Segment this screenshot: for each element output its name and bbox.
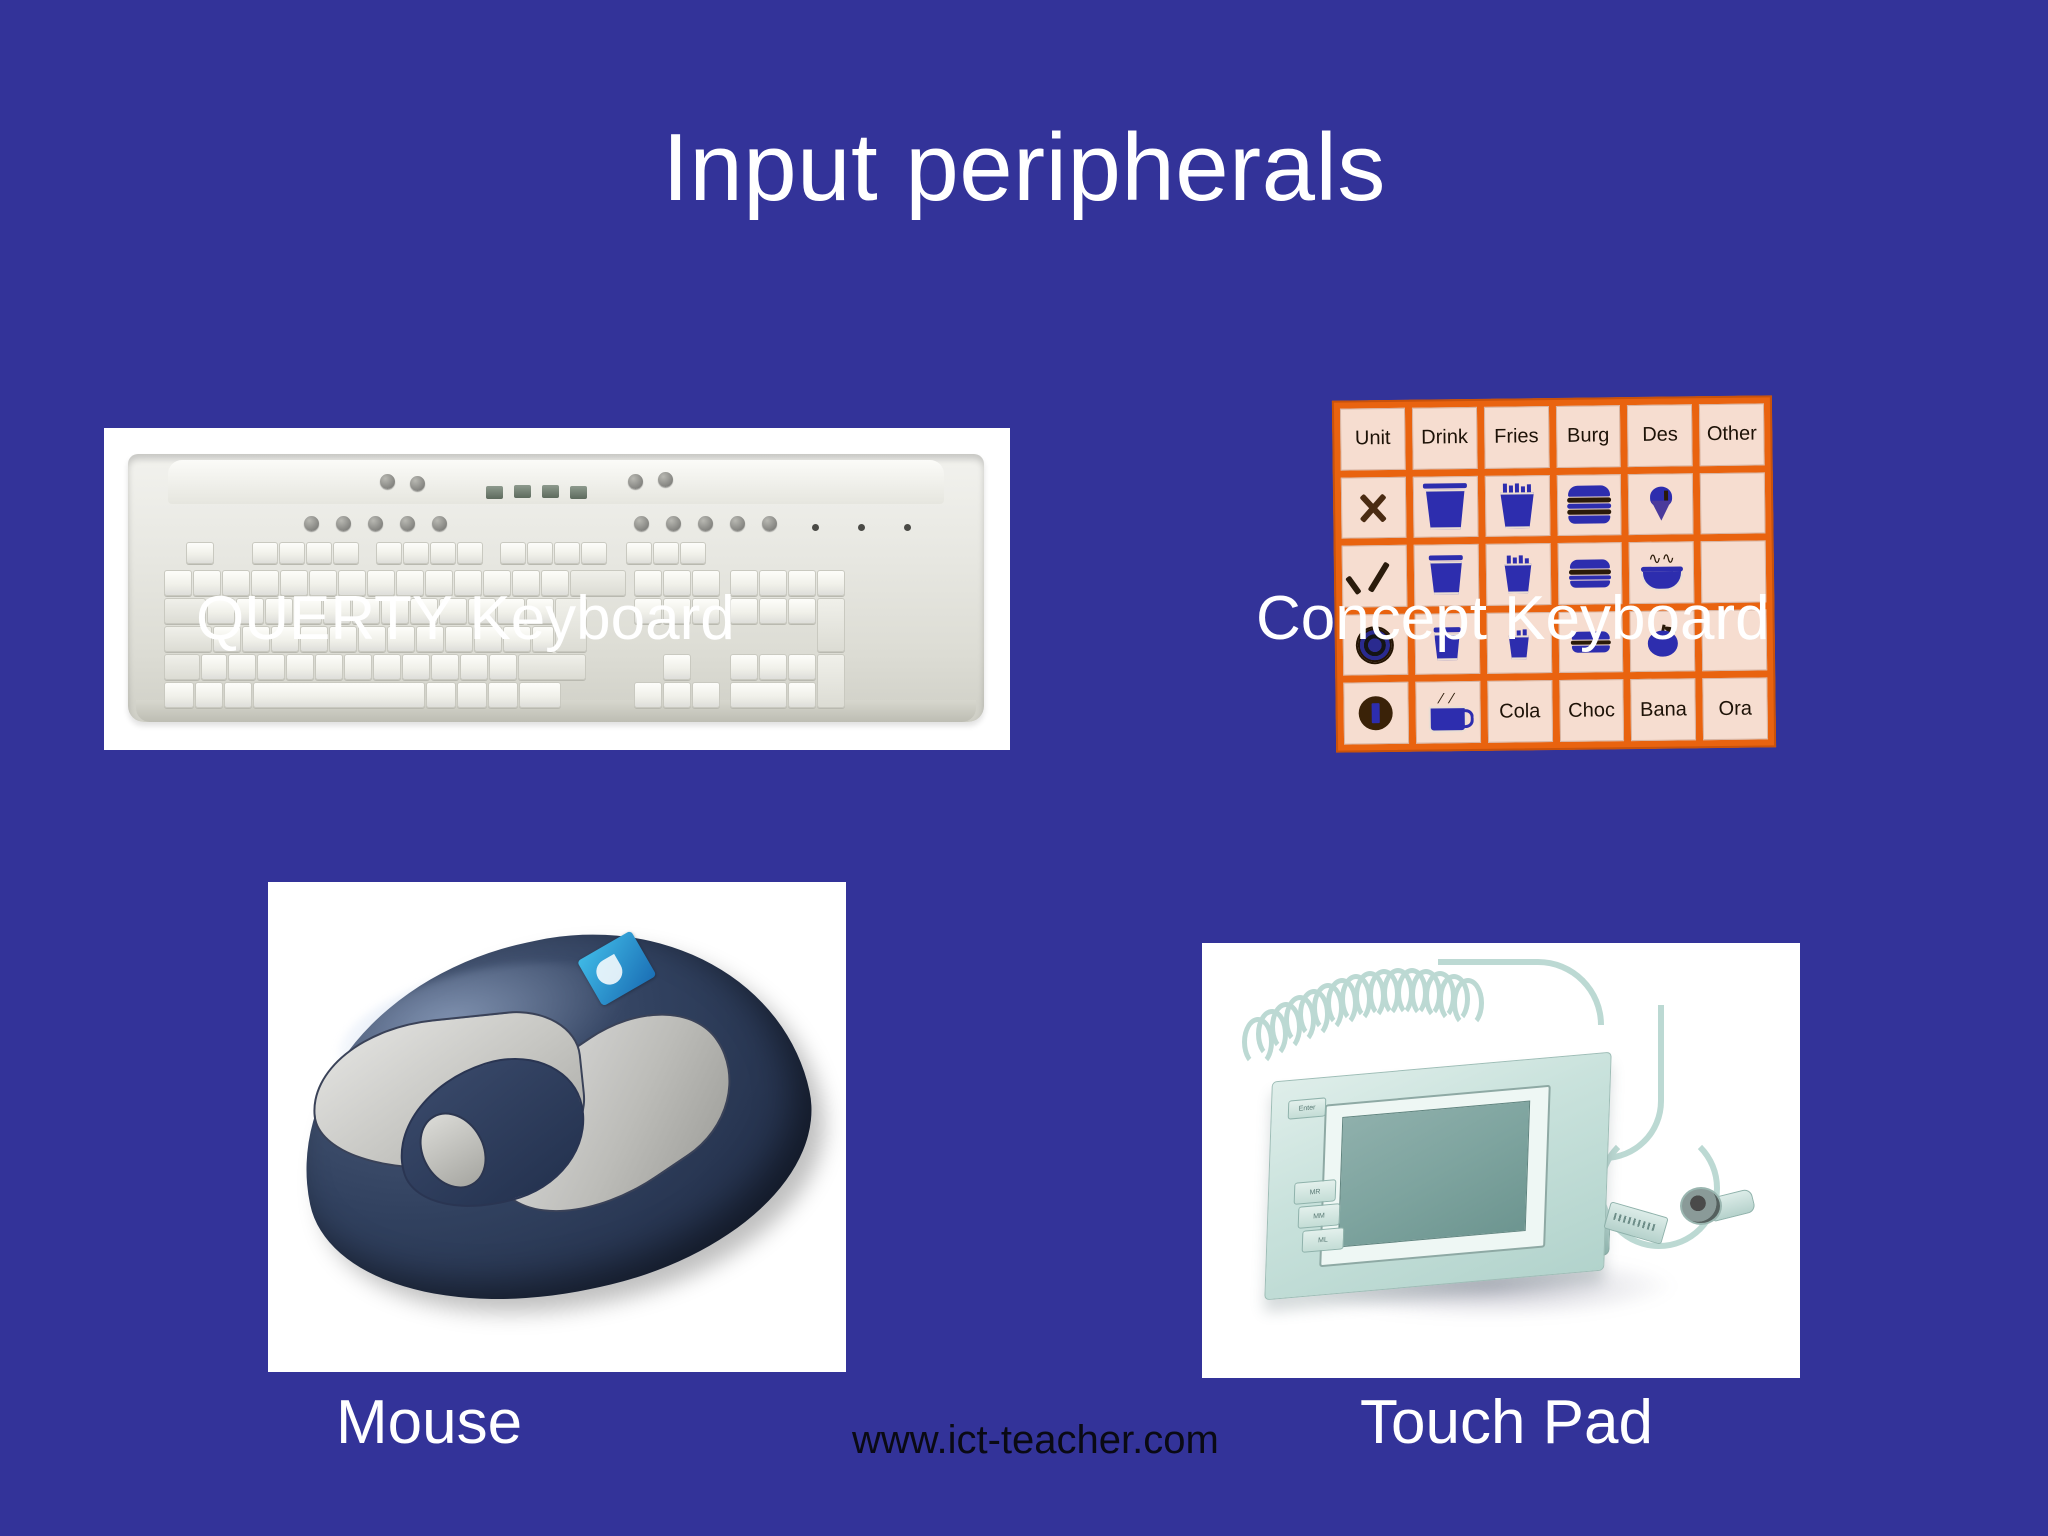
- burger-large-icon: [1567, 486, 1611, 525]
- hotkey-icon: [666, 516, 681, 531]
- concept-keyboard-image: Unit Drink Fries Burg Des Other: [1332, 395, 1776, 752]
- key-f1: [252, 542, 278, 564]
- scroll-lock-led: [904, 524, 911, 531]
- hotkey-icon: [730, 516, 745, 531]
- key-numpad-0: [730, 682, 787, 708]
- key-c: [286, 654, 314, 680]
- hotkey-icon: [304, 516, 319, 531]
- key-f11: [554, 542, 580, 564]
- drink-large-icon: [1423, 483, 1468, 530]
- concept-key-bana: Bana: [1631, 679, 1697, 741]
- key-backtick: [164, 570, 192, 596]
- hot-drink-icon: ∕ ∕: [1429, 693, 1467, 732]
- concept-key-blank: [1700, 472, 1766, 534]
- hotkey-icon: [698, 516, 713, 531]
- mouse-image: [268, 882, 846, 1372]
- key-f6: [403, 542, 429, 564]
- key-numpad-5: [759, 654, 787, 680]
- next-track-icon: [570, 486, 587, 499]
- key-numpad-enter: [817, 654, 845, 708]
- concept-keyboard-grid: Unit Drink Fries Burg Des Other: [1340, 403, 1768, 744]
- play-pause-icon: [514, 485, 531, 498]
- mouse-artwork: [268, 882, 846, 1372]
- concept-key-burger-large: [1556, 474, 1622, 536]
- hotkey-icon: [368, 516, 383, 531]
- concept-key-cola: Cola: [1487, 680, 1553, 742]
- key-arrow-up: [663, 654, 691, 680]
- key-windows-right: [457, 682, 487, 708]
- cable-lead-upper: [1438, 959, 1604, 1025]
- ice-cream-cone-icon: [1650, 487, 1672, 521]
- cross-icon: [1354, 488, 1392, 526]
- key-print-screen: [626, 542, 652, 564]
- key-alt-right: [426, 682, 456, 708]
- key-comma: [431, 654, 459, 680]
- key-x: [257, 654, 285, 680]
- volume-knob-icon: [380, 474, 395, 489]
- key-numpad-minus: [817, 570, 845, 596]
- key-arrow-down: [663, 682, 691, 708]
- ps2-connector-icon: [1680, 1187, 1722, 1225]
- key-f12: [581, 542, 607, 564]
- key-v: [315, 654, 343, 680]
- concept-key-cross: [1341, 476, 1407, 538]
- concept-key-choc: Choc: [1559, 680, 1625, 742]
- key-numpad-8: [759, 598, 787, 624]
- key-m: [402, 654, 430, 680]
- hotkey-icon: [634, 516, 649, 531]
- mute-knob-icon: [410, 476, 425, 491]
- concept-key-other: Other: [1699, 403, 1765, 465]
- key-f4: [333, 542, 359, 564]
- concept-key-fries-large: [1484, 475, 1550, 537]
- concept-key-drink: Drink: [1412, 407, 1478, 469]
- banknote-icon: [1359, 696, 1393, 730]
- qwerty-keyboard-caption: QUERTY Keyboard: [196, 588, 735, 650]
- caps-lock-led: [858, 524, 865, 531]
- concept-keyboard-caption: Concept Keyboard: [1256, 588, 1770, 650]
- fries-large-icon: [1497, 483, 1538, 528]
- key-numpad-divide: [759, 570, 787, 596]
- touch-pad-artwork: Enter MR MM ML: [1202, 943, 1800, 1378]
- key-z: [228, 654, 256, 680]
- concept-key-des: Des: [1627, 404, 1693, 466]
- concept-key-ora: Ora: [1702, 678, 1768, 740]
- key-space: [253, 682, 425, 708]
- hotkey-icon: [336, 516, 351, 531]
- key-f2: [279, 542, 305, 564]
- touch-pad-surface[interactable]: [1338, 1101, 1530, 1248]
- concept-key-hot-drink: ∕ ∕: [1415, 681, 1481, 743]
- key-numpad-9: [788, 598, 816, 624]
- num-lock-led: [812, 524, 819, 531]
- touch-pad-button-mm[interactable]: MM: [1298, 1203, 1341, 1229]
- touch-pad-button-mr[interactable]: MR: [1294, 1179, 1337, 1205]
- key-numpad-decimal: [788, 682, 816, 708]
- key-f5: [376, 542, 402, 564]
- concept-key-ice-cream: [1628, 473, 1694, 535]
- key-ctrl-right: [519, 682, 561, 708]
- key-esc: [186, 542, 214, 564]
- key-menu: [488, 682, 518, 708]
- key-slash: [489, 654, 517, 680]
- touch-pad-button-enter[interactable]: Enter: [1288, 1097, 1327, 1119]
- touch-pad-button-ml[interactable]: ML: [1302, 1227, 1345, 1253]
- concept-key-drink-large: [1413, 476, 1479, 538]
- key-shift-right: [518, 654, 586, 680]
- key-f7: [430, 542, 456, 564]
- key-windows-left: [195, 682, 223, 708]
- site-watermark: www.ict-teacher.com: [852, 1418, 1219, 1463]
- touch-pad-caption: Touch Pad: [1360, 1392, 1653, 1454]
- mouse-caption: Mouse: [336, 1392, 522, 1454]
- concept-key-fries: Fries: [1484, 406, 1550, 468]
- internet-knob-icon: [628, 474, 643, 489]
- key-arrow-right: [692, 682, 720, 708]
- key-ctrl-left: [164, 682, 194, 708]
- key-period: [460, 654, 488, 680]
- touch-pad-image: Enter MR MM ML: [1202, 943, 1800, 1378]
- slide-canvas: Input peripherals: [0, 0, 2048, 1536]
- mail-knob-icon: [658, 472, 673, 487]
- key-shift-left: [164, 654, 200, 680]
- prev-track-icon: [486, 486, 503, 499]
- concept-key-unit: Unit: [1340, 408, 1406, 470]
- hotkey-icon: [432, 516, 447, 531]
- key-backslash: [201, 654, 227, 680]
- key-f10: [527, 542, 553, 564]
- key-numpad-4: [730, 654, 758, 680]
- hotkey-icon: [400, 516, 415, 531]
- page-title: Input peripherals: [0, 118, 2048, 219]
- key-numpad-multiply: [788, 570, 816, 596]
- concept-key-banknote: [1343, 682, 1409, 744]
- key-f3: [306, 542, 332, 564]
- key-pause: [680, 542, 706, 564]
- concept-key-burg: Burg: [1555, 405, 1621, 467]
- key-numpad-6: [788, 654, 816, 680]
- key-b: [344, 654, 372, 680]
- key-f9: [500, 542, 526, 564]
- key-scroll-lock: [653, 542, 679, 564]
- hotkey-icon: [762, 516, 777, 531]
- key-alt-left: [224, 682, 252, 708]
- key-numpad-plus: [817, 598, 845, 652]
- key-n: [373, 654, 401, 680]
- key-f8: [457, 542, 483, 564]
- stop-icon: [542, 485, 559, 498]
- key-arrow-left: [634, 682, 662, 708]
